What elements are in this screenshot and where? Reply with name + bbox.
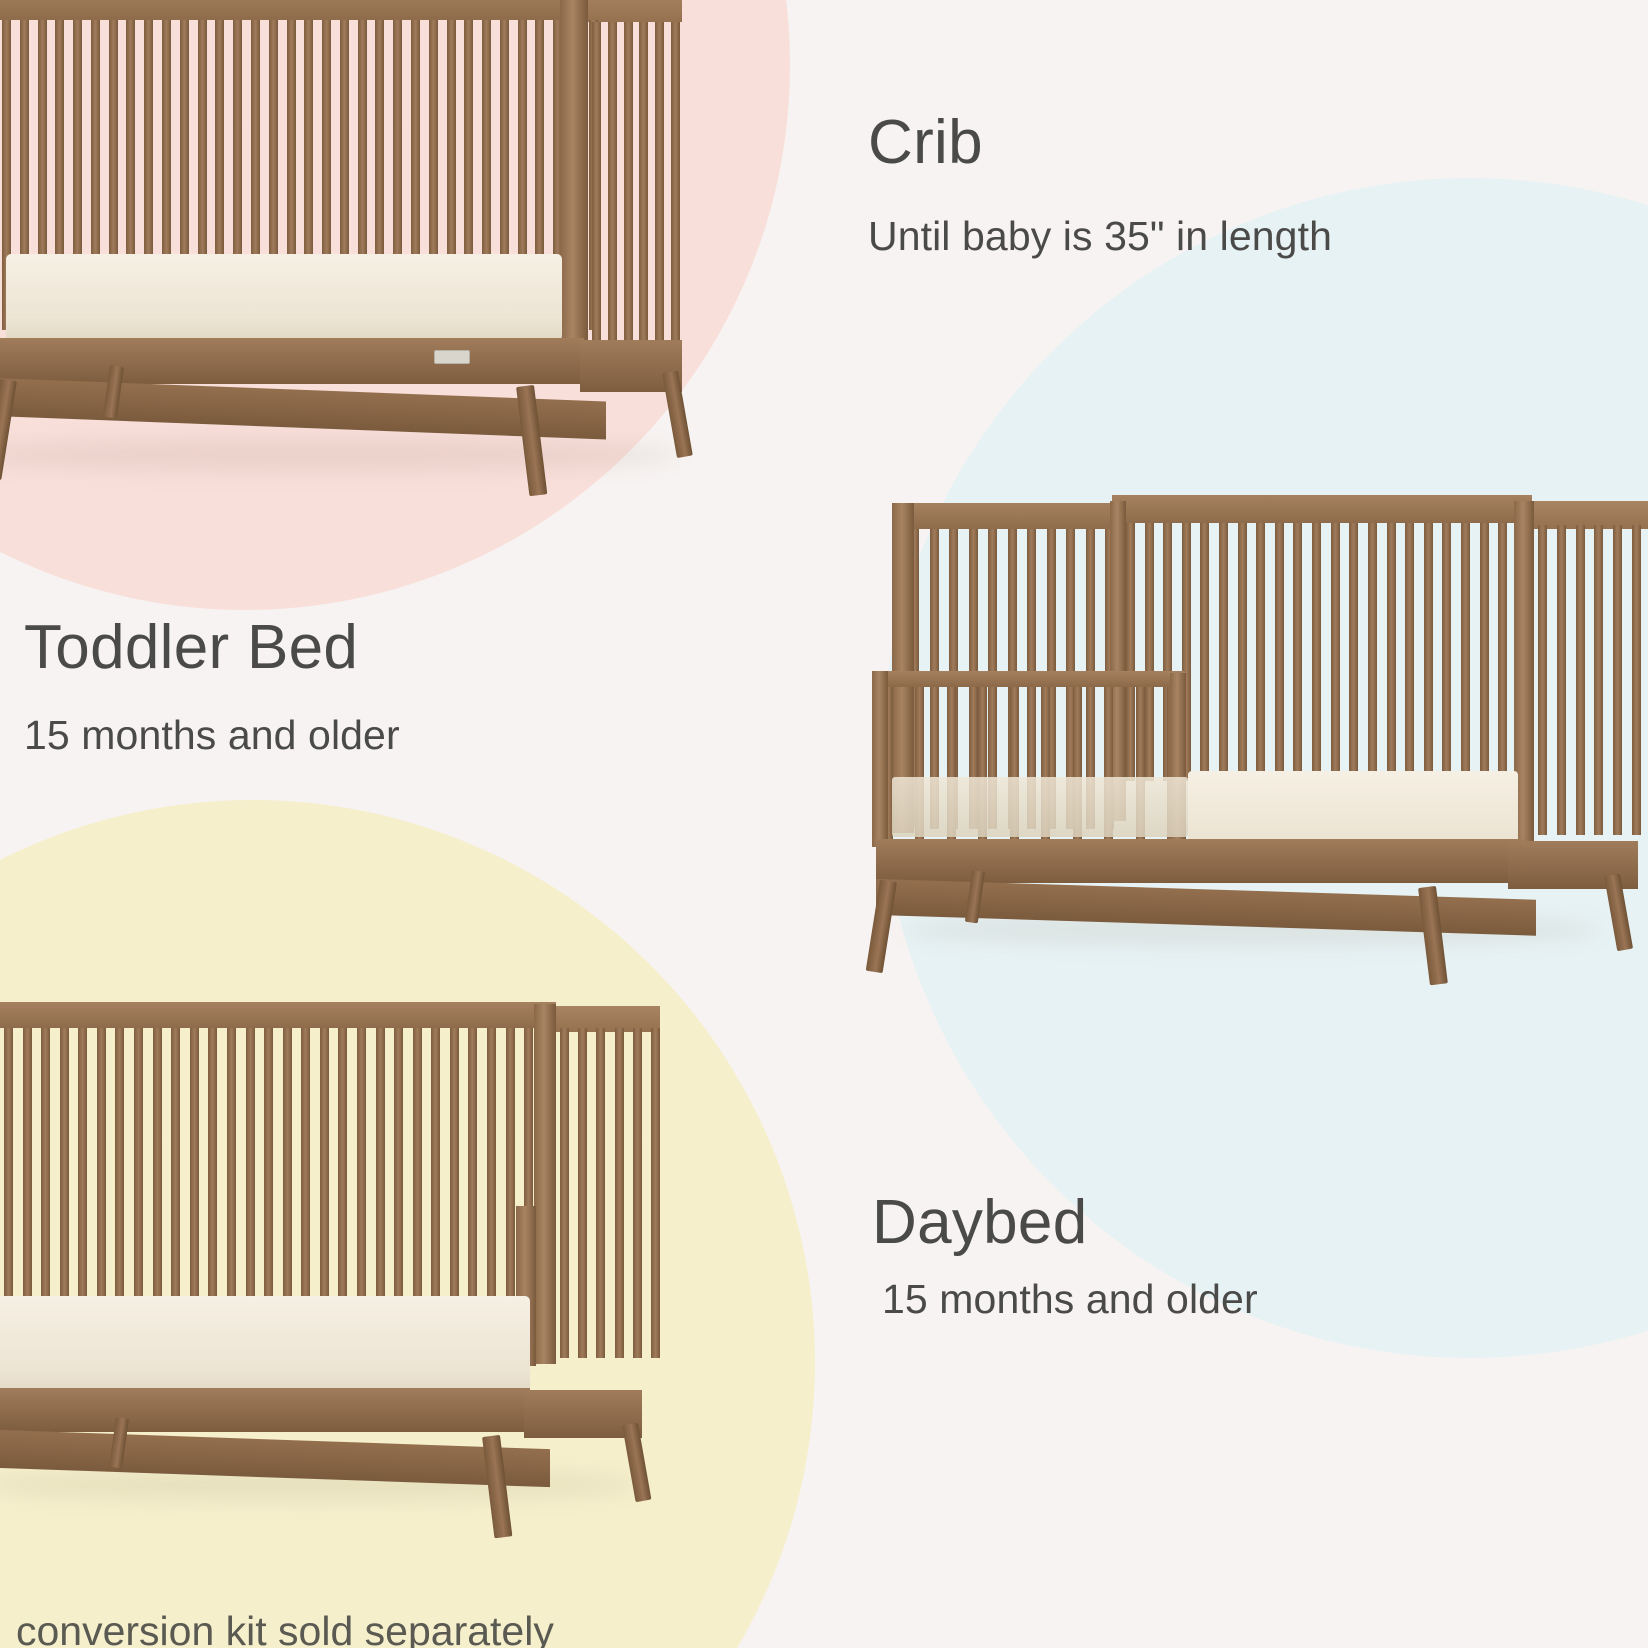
daybed-subtitle: 15 months and older bbox=[882, 1276, 1258, 1323]
conversion-kit-footnote: conversion kit sold separately bbox=[16, 1608, 554, 1648]
toddler-bed-subtitle: 15 months and older bbox=[24, 712, 400, 759]
toddler-leg-front-left bbox=[866, 880, 897, 974]
crib-side-top-rail bbox=[588, 0, 682, 22]
toddler-rear-top-rail bbox=[906, 503, 1114, 529]
crib-side-slats bbox=[592, 22, 680, 352]
crib-base-apron-front bbox=[0, 378, 606, 440]
toddler-back-panel-slats bbox=[1126, 523, 1526, 781]
toddler-back-top-rail bbox=[1112, 495, 1532, 523]
toddler-far-side-slats bbox=[1538, 525, 1648, 835]
daybed-photo bbox=[0, 1000, 730, 1530]
daybed-corner-post-right bbox=[534, 1004, 556, 1364]
daybed-side-slats bbox=[560, 1028, 660, 1358]
infographic-canvas: Crib Until baby is 35" in length Toddler… bbox=[0, 0, 1648, 1648]
toddler-mattress-left-edge bbox=[892, 777, 1188, 837]
daybed-rear-top-rail bbox=[0, 1002, 556, 1028]
daybed-title: Daybed bbox=[872, 1190, 1088, 1255]
crib-leg-rear-right bbox=[662, 371, 693, 458]
daybed-base-apron bbox=[0, 1388, 530, 1432]
crib-brand-label bbox=[434, 350, 470, 364]
daybed-leg-rear-right bbox=[622, 1423, 651, 1503]
crib-photo bbox=[0, 0, 760, 486]
toddler-guard-rail-top bbox=[874, 671, 1186, 687]
toddler-bed-photo bbox=[862, 495, 1648, 965]
crib-base-apron bbox=[0, 338, 584, 384]
crib-subtitle: Until baby is 35" in length bbox=[868, 213, 1332, 260]
crib-rear-top-rail bbox=[0, 0, 598, 20]
crib-title: Crib bbox=[868, 110, 983, 175]
toddler-bed-title: Toddler Bed bbox=[24, 615, 358, 680]
crib-leg-front-left bbox=[0, 379, 17, 480]
daybed-back-slats bbox=[4, 1028, 552, 1324]
crib-shadow bbox=[0, 438, 680, 472]
toddler-guard-rail-post-left bbox=[872, 671, 888, 847]
crib-corner-post bbox=[560, 0, 588, 348]
